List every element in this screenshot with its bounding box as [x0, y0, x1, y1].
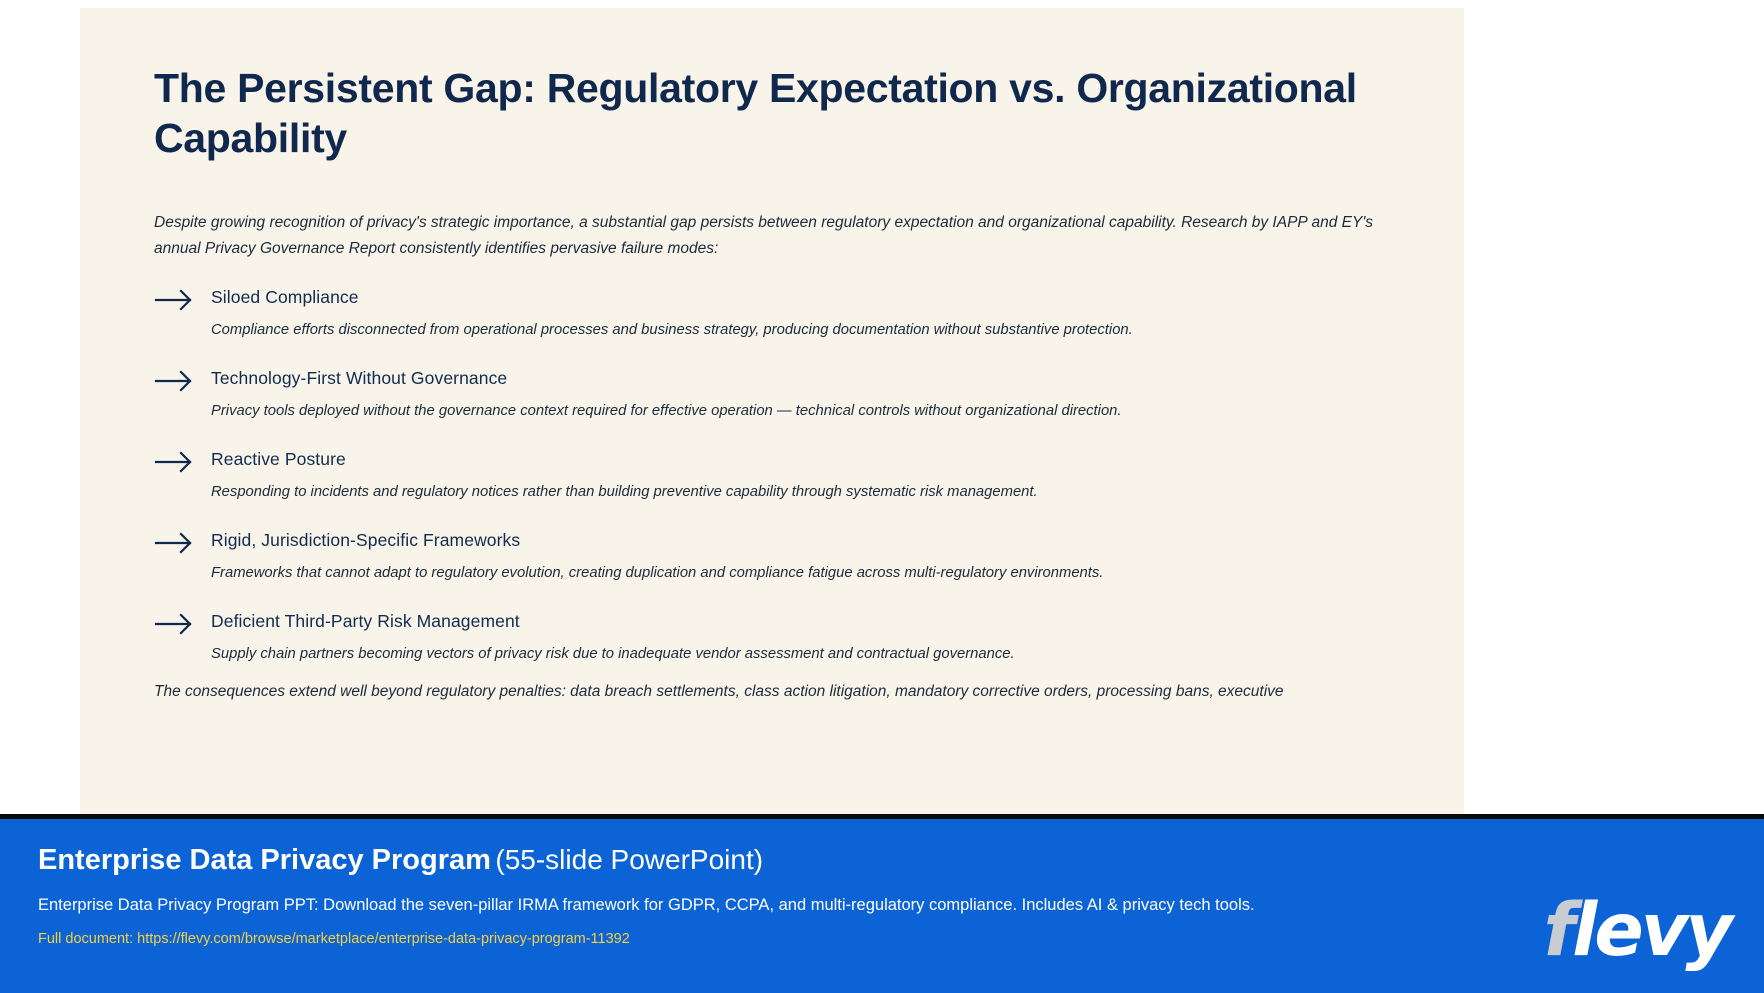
list-item-title: Rigid, Jurisdiction-Specific Frameworks [211, 529, 1404, 552]
list-item: Siloed Compliance Compliance efforts dis… [154, 286, 1404, 341]
list-item: Technology-First Without Governance Priv… [154, 367, 1404, 422]
arrow-right-icon [154, 450, 196, 474]
promo-document-link-anchor[interactable]: Full document: https://flevy.com/browse/… [38, 931, 630, 947]
list-item-title: Deficient Third-Party Risk Management [211, 610, 1404, 633]
intro-paragraph: Despite growing recognition of privacy's… [154, 210, 1404, 262]
list-item-description: Compliance efforts disconnected from ope… [211, 319, 1404, 341]
list-item-description: Responding to incidents and regulatory n… [211, 481, 1404, 503]
list-item: Deficient Third-Party Risk Management Su… [154, 610, 1404, 665]
list-item-title: Siloed Compliance [211, 286, 1404, 309]
arrow-right-icon [154, 369, 196, 393]
flevy-logo-f: f [1544, 888, 1573, 973]
outro-paragraph: The consequences extend well beyond regu… [154, 679, 1394, 705]
arrow-right-icon [154, 288, 196, 312]
promo-banner: Enterprise Data Privacy Program (55-slid… [0, 814, 1764, 993]
list-item-title: Technology-First Without Governance [211, 367, 1404, 390]
promo-document-link[interactable]: Full document: https://flevy.com/browse/… [38, 931, 1764, 947]
promo-subtitle: (55-slide PowerPoint) [495, 844, 763, 875]
promo-title-line: Enterprise Data Privacy Program (55-slid… [38, 845, 1764, 877]
promo-description: Enterprise Data Privacy Program PPT: Dow… [38, 893, 1308, 918]
list-item-description: Privacy tools deployed without the gover… [211, 400, 1404, 422]
page-title: The Persistent Gap: Regulatory Expectati… [154, 63, 1404, 163]
list-item-title: Reactive Posture [211, 448, 1404, 471]
list-item: Reactive Posture Responding to incidents… [154, 448, 1404, 503]
slide-content: The Persistent Gap: Regulatory Expectati… [80, 8, 1464, 705]
arrow-right-icon [154, 531, 196, 555]
list-item-description: Supply chain partners becoming vectors o… [211, 643, 1404, 665]
list-item-description: Frameworks that cannot adapt to regulato… [211, 562, 1404, 584]
flevy-logo: flevy [1544, 894, 1730, 967]
promo-banner-content: Enterprise Data Privacy Program (55-slid… [0, 819, 1764, 993]
arrow-right-icon [154, 612, 196, 636]
failure-mode-list: Siloed Compliance Compliance efforts dis… [154, 286, 1404, 665]
flevy-logo-rest: levy [1572, 888, 1730, 973]
list-item: Rigid, Jurisdiction-Specific Frameworks … [154, 529, 1404, 584]
screenshot-root: The Persistent Gap: Regulatory Expectati… [0, 0, 1764, 993]
promo-title: Enterprise Data Privacy Program [38, 844, 491, 876]
slide-canvas: The Persistent Gap: Regulatory Expectati… [80, 8, 1464, 818]
